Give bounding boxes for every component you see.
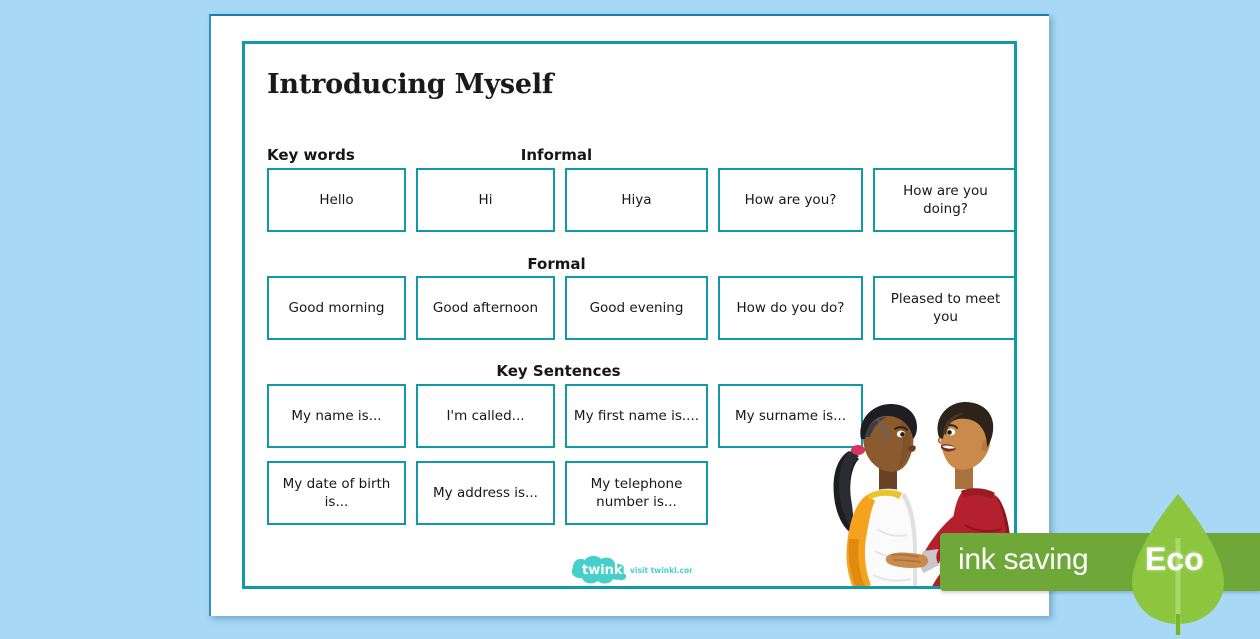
twinkl-wordmark: twinkl <box>582 563 627 578</box>
sentence-card: My telephone number is... <box>565 461 708 525</box>
key-sentences-row-2: My date of birth is... My address is... … <box>267 461 708 525</box>
sentence-card: I'm called... <box>416 384 555 448</box>
ink-saving-label: ink saving <box>958 543 1088 577</box>
formal-phrase-row: Good morning Good afternoon Good evening… <box>267 276 1017 340</box>
section-heading-formal: Formal <box>245 255 1017 273</box>
phrase-card: Hi <box>416 168 555 232</box>
section-heading-key-sentences: Key Sentences <box>245 362 1017 380</box>
page-title: Introducing Myself <box>267 69 553 100</box>
key-sentences-row-1: My name is... I'm called... My first nam… <box>267 384 863 448</box>
sentence-card: My date of birth is... <box>267 461 406 525</box>
sentence-card: My name is... <box>267 384 406 448</box>
sentence-card: My address is... <box>416 461 555 525</box>
twinkl-logo[interactable]: twinkl visit twinkl.com <box>557 554 692 586</box>
worksheet-frame: Introducing Myself Key words Informal Fo… <box>242 41 1017 589</box>
ink-saving-eco-badge: ink saving Eco <box>940 533 1260 591</box>
twinkl-tagline: visit twinkl.com <box>630 566 692 575</box>
phrase-card: Good evening <box>565 276 708 340</box>
phrase-card: How do you do? <box>718 276 863 340</box>
sentence-card: My first name is.... <box>565 384 708 448</box>
phrase-card: Hiya <box>565 168 708 232</box>
phrase-card: Good morning <box>267 276 406 340</box>
phrase-card: How are you doing? <box>873 168 1017 232</box>
twinkl-logo-svg: twinkl visit twinkl.com <box>557 554 692 586</box>
phrase-card: Pleased to meet you <box>873 276 1017 340</box>
informal-phrase-row: Hello Hi Hiya How are you? How are you d… <box>267 168 1017 232</box>
eco-label: Eco <box>1145 541 1204 578</box>
phrase-card: How are you? <box>718 168 863 232</box>
phrase-card: Hello <box>267 168 406 232</box>
worksheet-page: Introducing Myself Key words Informal Fo… <box>209 14 1049 616</box>
phrase-card: Good afternoon <box>416 276 555 340</box>
section-heading-informal: Informal <box>245 146 1017 164</box>
